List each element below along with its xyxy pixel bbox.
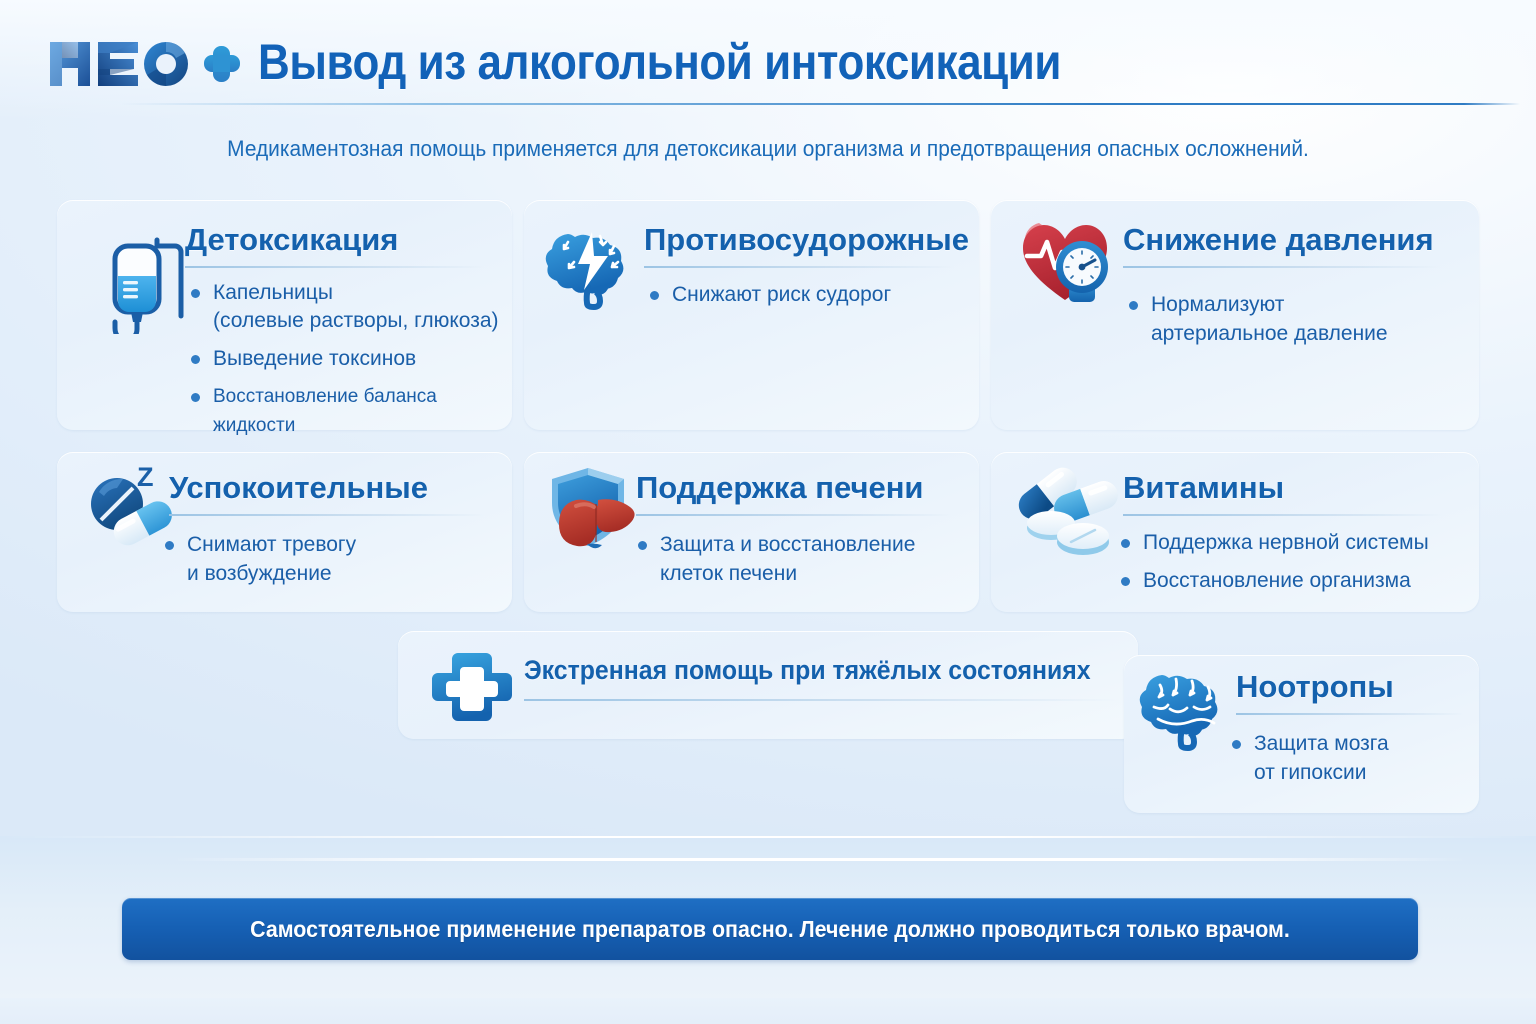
card-title: Детоксикация — [185, 222, 398, 258]
list-item: Нормализуют артериальное давление — [1125, 290, 1455, 348]
pills-capsules-icon — [999, 458, 1129, 568]
heart-pressure-gauge-icon — [1013, 212, 1125, 317]
card-bullet-list: Снижают риск судорог — [646, 280, 966, 318]
card-title-divider — [185, 266, 485, 268]
page-title: Вывод из алкогольной интоксикации — [258, 33, 1061, 91]
page-subtitle: Медикаментозная помощь применяется для д… — [38, 136, 1497, 162]
card-title-divider — [636, 514, 954, 516]
footer-warning-text: Самостоятельное применение препаратов оп… — [167, 898, 1372, 960]
card-title-divider — [644, 266, 954, 268]
card-detox[interactable]: Детоксикация Капельницы (солевые раствор… — [57, 200, 512, 430]
svg-text:Z: Z — [137, 462, 154, 492]
background-footer-divider — [170, 858, 1470, 861]
list-item: Защита мозга от гипоксии — [1228, 729, 1478, 787]
card-title: Витамины — [1123, 470, 1284, 506]
neo-plus-logo — [48, 36, 243, 92]
card-title: Ноотропы — [1236, 669, 1394, 705]
card-sedatives[interactable]: Z Успокоительные Снимают тревогу и возбу… — [57, 452, 512, 612]
footer-warning-banner: Самостоятельное применение препаратов оп… — [122, 898, 1418, 960]
card-title: Успокоительные — [169, 470, 428, 506]
card-title: Поддержка печени — [636, 470, 924, 506]
card-bullet-list: Защита мозга от гипоксии — [1228, 729, 1478, 796]
card-nootropics[interactable]: Ноотропы Защита мозга от гипоксии — [1124, 655, 1479, 813]
list-item: Капельницы — [187, 278, 507, 307]
card-title-divider — [1123, 266, 1441, 268]
emergency-care-banner[interactable]: Экстренная помощь при тяжёлых состояниях — [398, 631, 1138, 739]
card-title: Противосудорожные — [644, 222, 969, 258]
card-bullet-list: Поддержка нервной системы Восстановление… — [1117, 528, 1467, 604]
list-item: Выведение токсинов — [187, 344, 507, 373]
card-bullet-list: Защита и восстановление клеток печени — [634, 530, 974, 597]
card-blood-pressure[interactable]: Снижение давления Нормализуют артериальн… — [991, 200, 1479, 430]
card-title-divider — [1236, 713, 1464, 715]
card-bullet-list: Нормализуют артериальное давление — [1125, 290, 1455, 357]
emergency-divider — [524, 699, 1120, 701]
iv-drip-icon — [85, 224, 195, 339]
card-title: Снижение давления — [1123, 222, 1434, 258]
list-item: Снижают риск судорог — [646, 280, 966, 309]
list-item: Восстановление баланса жидкости — [187, 382, 507, 440]
list-item: Снимают тревогу и возбуждение — [161, 530, 491, 588]
list-item: Защита и восстановление клеток печени — [634, 530, 974, 588]
medical-cross-icon — [430, 649, 514, 730]
page-header: Вывод из алкогольной интоксикации — [0, 0, 1536, 110]
list-item: (солевые растворы, глюкоза) — [187, 306, 507, 335]
card-title-divider — [169, 514, 487, 516]
card-vitamins[interactable]: Витамины Поддержка нервной системы Восст… — [991, 452, 1479, 612]
card-bullet-list: Капельницы (солевые растворы, глюкоза) В… — [187, 278, 507, 449]
list-item: Поддержка нервной системы — [1117, 528, 1467, 557]
card-liver-support[interactable]: Поддержка печени Защита и восстановление… — [524, 452, 979, 612]
card-bullet-list: Снимают тревогу и возбуждение — [161, 530, 491, 597]
emergency-title: Экстренная помощь при тяжёлых состояниях — [524, 655, 1091, 686]
header-divider — [120, 103, 1520, 105]
brain-lightning-icon — [544, 220, 644, 315]
background-bottom-strip — [0, 998, 1536, 1024]
list-item: Восстановление организма — [1117, 566, 1467, 595]
card-title-divider — [1123, 514, 1445, 516]
card-anticonvulsants[interactable]: Противосудорожные Снижают риск судорог — [524, 200, 979, 430]
brain-icon — [1138, 663, 1238, 756]
